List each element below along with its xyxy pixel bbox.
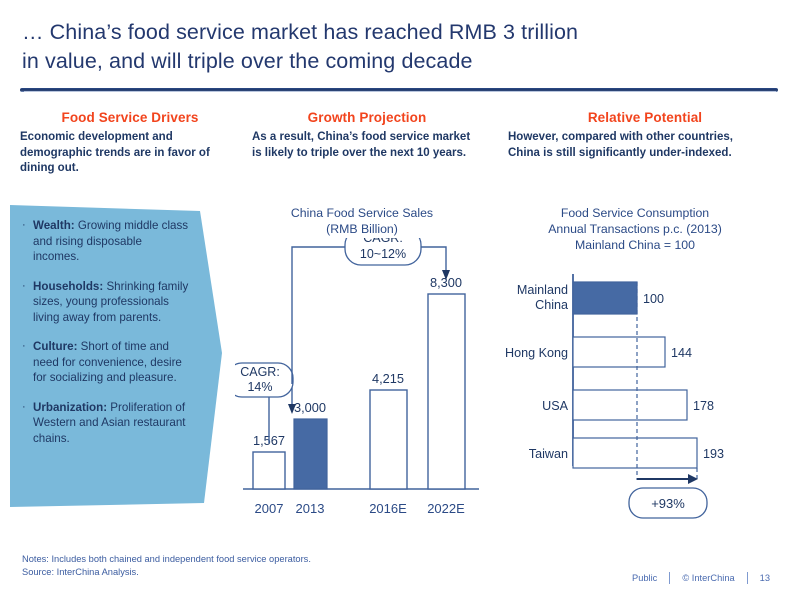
hbar-label-usa: USA	[542, 399, 568, 413]
column-heading-relative: Relative Potential	[520, 110, 770, 125]
hbar-label-mainland-china-line-2: China	[535, 298, 568, 312]
consumption-chart-title: Food Service Consumption Annual Transact…	[495, 205, 775, 253]
delta-callout-label: +93%	[651, 496, 685, 511]
bullet-dot-icon: ·	[22, 218, 33, 265]
hbar-usa	[573, 390, 687, 420]
bullet-dot-icon: ·	[22, 279, 33, 326]
footer-source-line: Source: InterChina Analysis.	[22, 566, 311, 579]
cagr-14-label-line-2: 14%	[247, 380, 272, 394]
bar-category-2007: 2007	[255, 501, 284, 516]
cagr-1012-label-line-1: CAGR:	[363, 238, 403, 245]
consumption-chart-title-line-1: Food Service Consumption	[495, 205, 775, 221]
bar-value-2016E: 4,215	[372, 371, 404, 386]
bullet-term: Urbanization:	[33, 401, 107, 414]
footer-notes: Notes: Includes both chained and indepen…	[22, 553, 311, 579]
column-subtitle-relative: However, compared with other countries, …	[508, 130, 768, 161]
consumption-chart-title-line-2: Annual Transactions p.c. (2013)	[495, 221, 775, 237]
cagr-1012-label-line-2: 10~12%	[360, 247, 406, 261]
sales-chart-title-line-2: (RMB Billion)	[247, 221, 477, 237]
hbar-taiwan	[573, 438, 697, 468]
bar-2022E	[428, 294, 465, 489]
bullet-term: Households:	[33, 280, 103, 293]
bar-2013	[294, 419, 327, 489]
drivers-bullet-list: · Wealth: Growing middle class and risin…	[22, 218, 190, 460]
bar-category-2016E: 2016E	[369, 501, 407, 516]
list-item: · Culture: Short of time and need for co…	[22, 339, 190, 386]
sales-chart-title-line-1: China Food Service Sales	[247, 205, 477, 221]
cagr-14-label-line-1: CAGR:	[240, 365, 280, 379]
footer-meta: Public © InterChina 13	[620, 572, 782, 584]
column-heading-drivers: Food Service Drivers	[20, 110, 240, 125]
column-subtitle-drivers: Economic development and demographic tre…	[20, 130, 235, 177]
bar-value-2013: 3,000	[294, 400, 326, 415]
column-heading-growth: Growth Projection	[252, 110, 482, 125]
footer-copyright: © InterChina	[670, 573, 746, 583]
hbar-value-usa: 178	[693, 399, 714, 413]
hbar-label-hong-kong: Hong Kong	[505, 346, 568, 360]
footer-page-number: 13	[748, 573, 782, 583]
bullet-dot-icon: ·	[22, 339, 33, 386]
page-title: … China’s food service market has reache…	[22, 18, 722, 76]
page-title-line-2: in value, and will triple over the comin…	[22, 47, 722, 76]
hbar-mainland-china	[573, 282, 637, 314]
bar-category-2013: 2013	[296, 501, 325, 516]
hbar-value-taiwan: 193	[703, 447, 724, 461]
sales-chart-title: China Food Service Sales (RMB Billion)	[247, 205, 477, 237]
sales-bar-chart: 1,567 3,000 4,215 8,300 2007 2013 2016E …	[235, 238, 485, 528]
bullet-dot-icon: ·	[22, 400, 33, 447]
bullet-term: Wealth:	[33, 219, 75, 232]
slide-canvas: … China’s food service market has reache…	[0, 0, 800, 599]
cagr-1012-connector-left	[292, 247, 347, 384]
hbar-label-taiwan: Taiwan	[529, 447, 568, 461]
hbar-value-hong-kong: 144	[671, 346, 692, 360]
consumption-chart-title-line-3: Mainland China = 100	[495, 237, 775, 253]
bullet-term: Culture:	[33, 340, 77, 353]
page-title-line-1: … China’s food service market has reache…	[22, 18, 722, 47]
title-divider	[20, 88, 778, 92]
hbar-label-mainland-china-line-1: Mainland	[517, 283, 568, 297]
bar-category-2022E: 2022E	[427, 501, 465, 516]
bar-2007	[253, 452, 285, 489]
hbar-value-mainland-china: 100	[643, 292, 664, 306]
cagr-1012-connector-right	[418, 247, 446, 272]
footer-classification: Public	[620, 573, 669, 583]
list-item: · Urbanization: Proliferation of Western…	[22, 400, 190, 447]
bar-2016E	[370, 390, 407, 489]
hbar-hong-kong	[573, 337, 665, 367]
column-subtitle-growth: As a result, China’s food service market…	[252, 130, 480, 161]
footer-notes-line-1: Notes: Includes both chained and indepen…	[22, 553, 311, 566]
list-item: · Wealth: Growing middle class and risin…	[22, 218, 190, 265]
consumption-bar-chart: Mainland China 100 Hong Kong 144 USA 178…	[490, 258, 790, 523]
list-item: · Households: Shrinking family sizes, yo…	[22, 279, 190, 326]
